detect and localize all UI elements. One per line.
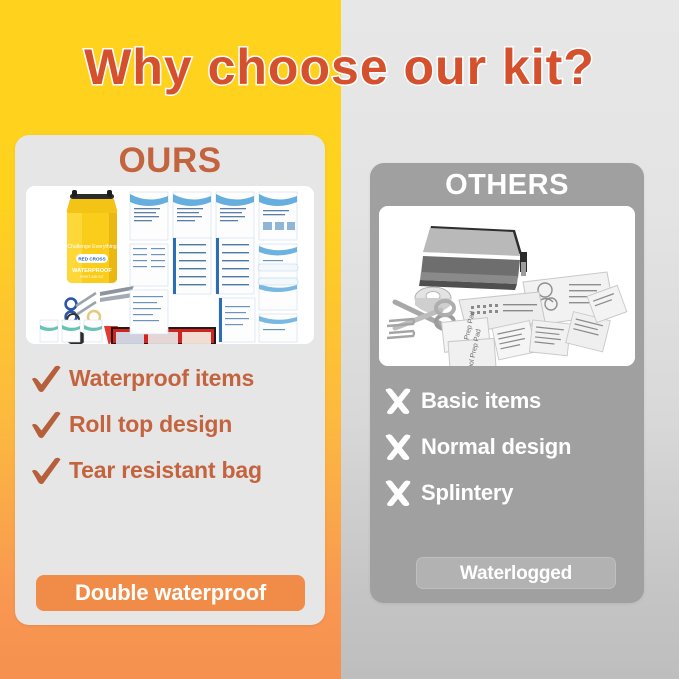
ours-header: OURS [15,139,325,183]
svg-text:WATERPROOF: WATERPROOF [72,268,112,274]
cross-icon [383,479,413,507]
check-icon [29,456,63,486]
ours-product-photo: Challenge Everything RED CROSS WATERPROO… [26,186,314,344]
ours-card: OURS Challenge Everything RED CROSS WATE… [15,135,325,625]
others-card: OTHERS [370,163,644,603]
svg-text:RED CROSS: RED CROSS [78,257,105,262]
yellow-drybag-icon: Challenge Everything RED CROSS WATERPROO… [67,190,117,283]
ours-kit-illustration: Challenge Everything RED CROSS WATERPROO… [26,186,314,344]
ours-feature-label: Waterproof items [69,365,254,392]
ours-feature-label: Roll top design [69,411,232,438]
ours-feature-label: Tear resistant bag [69,457,262,484]
waterlogged-button[interactable]: Waterlogged [416,557,616,589]
list-item: Normal design [383,425,643,468]
cross-icon [383,387,413,415]
svg-text:Challenge Everything: Challenge Everything [67,244,116,250]
others-kit-illustration: Alcohol Prep Pad Alcohol Prep Pad [379,206,635,366]
comparison-infographic: Why choose our kit? OURS Challenge Every… [0,0,679,679]
cross-icon [383,433,413,461]
double-waterproof-button[interactable]: Double waterproof [36,575,305,611]
list-item: Waterproof items [29,357,319,400]
bandage-strips [40,320,102,342]
others-feature-label: Basic items [421,388,541,414]
ours-feature-list: Waterproof items Roll top design Tear re… [29,357,319,495]
others-header: OTHERS [370,166,644,204]
others-feature-list: Basic items Normal design [383,379,643,517]
svg-text:FIRST AID KIT: FIRST AID KIT [80,275,105,279]
list-item: Roll top design [29,403,319,446]
page-title: Why choose our kit? [0,36,679,98]
list-item: Basic items [383,379,643,422]
others-product-photo: Alcohol Prep Pad Alcohol Prep Pad [379,206,635,366]
list-item: Tear resistant bag [29,449,319,492]
list-item: Splintery [383,471,643,514]
others-feature-label: Splintery [421,480,513,506]
check-icon [29,410,63,440]
check-icon [29,364,63,394]
others-feature-label: Normal design [421,434,571,460]
